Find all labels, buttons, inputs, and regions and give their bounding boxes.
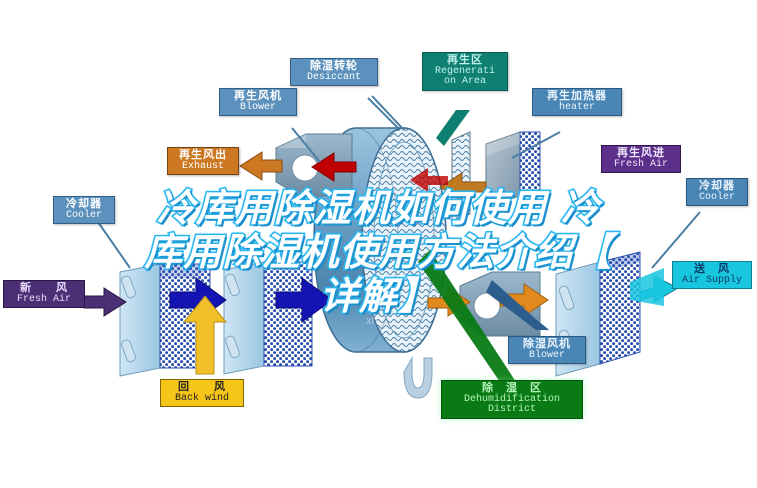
label-dehumidification-district-cn: 除 湿 区 bbox=[446, 383, 578, 395]
label-dehumidify-blower-cn: 除湿风机 bbox=[513, 339, 581, 351]
label-dehumidification-district-en2: District bbox=[446, 405, 578, 416]
heater-block bbox=[486, 132, 540, 206]
label-regeneration-heater: 再生加热器 heater bbox=[532, 88, 622, 116]
label-desiccant-wheel-cn: 除湿转轮 bbox=[295, 61, 373, 73]
label-regeneration-fresh-air-en: Fresh Air bbox=[606, 160, 676, 171]
label-back-wind-en: Back wind bbox=[165, 394, 239, 405]
label-fresh-air-cn: 新 风 bbox=[8, 283, 80, 295]
label-fresh-air: 新 风 Fresh Air bbox=[3, 280, 85, 308]
label-air-supply-cn: 送 风 bbox=[677, 264, 747, 276]
label-air-supply: 送 风 Air Supply bbox=[672, 261, 752, 289]
label-back-wind-cn: 回 风 bbox=[165, 382, 239, 394]
label-exhaust-cn: 再生风出 bbox=[172, 150, 234, 162]
label-regeneration-blower: 再生风机 Blower bbox=[219, 88, 297, 116]
label-dehumidify-blower-en: Blower bbox=[513, 351, 581, 362]
label-regeneration-area-cn: 再生区 bbox=[427, 55, 503, 67]
label-exhaust-en: Exhaust bbox=[172, 162, 234, 173]
label-fresh-air-en: Fresh Air bbox=[8, 295, 80, 306]
cooling-coil-right bbox=[224, 262, 312, 374]
label-regeneration-area: 再生区 Regenerati on Area bbox=[422, 52, 508, 91]
label-cooler-left-cn: 冷却器 bbox=[58, 199, 110, 211]
label-exhaust: 再生风出 Exhaust bbox=[167, 147, 239, 175]
drain-tray bbox=[404, 358, 432, 398]
label-regeneration-fresh-air: 再生风进 Fresh Air bbox=[601, 145, 681, 173]
label-regeneration-blower-en: Blower bbox=[224, 103, 292, 114]
label-cooler-right-en: Cooler bbox=[691, 193, 743, 204]
label-cooler-right-cn: 冷却器 bbox=[691, 181, 743, 193]
label-dehumidification-district: 除 湿 区 Dehumidification District bbox=[441, 380, 583, 419]
label-dehumidify-blower: 除湿风机 Blower bbox=[508, 336, 586, 364]
label-air-supply-en: Air Supply bbox=[677, 276, 747, 287]
label-regeneration-area-en2: on Area bbox=[427, 77, 503, 88]
label-regeneration-heater-cn: 再生加热器 bbox=[537, 91, 617, 103]
svg-text:xh: xh bbox=[366, 315, 378, 327]
label-regeneration-blower-cn: 再生风机 bbox=[224, 91, 292, 103]
label-cooler-right: 冷却器 Cooler bbox=[686, 178, 748, 206]
label-desiccant-wheel-en: Desiccant bbox=[295, 73, 373, 84]
label-desiccant-wheel: 除湿转轮 Desiccant bbox=[290, 58, 378, 86]
label-regeneration-heater-en: heater bbox=[537, 103, 617, 114]
label-back-wind: 回 风 Back wind bbox=[160, 379, 244, 407]
label-regeneration-fresh-air-cn: 再生风进 bbox=[606, 148, 676, 160]
label-cooler-left-en: Cooler bbox=[58, 211, 110, 222]
dehumidifier-schematic-svg: xh bbox=[0, 0, 757, 488]
label-cooler-left: 冷却器 Cooler bbox=[53, 196, 115, 224]
diagram-canvas: xh bbox=[0, 0, 757, 488]
